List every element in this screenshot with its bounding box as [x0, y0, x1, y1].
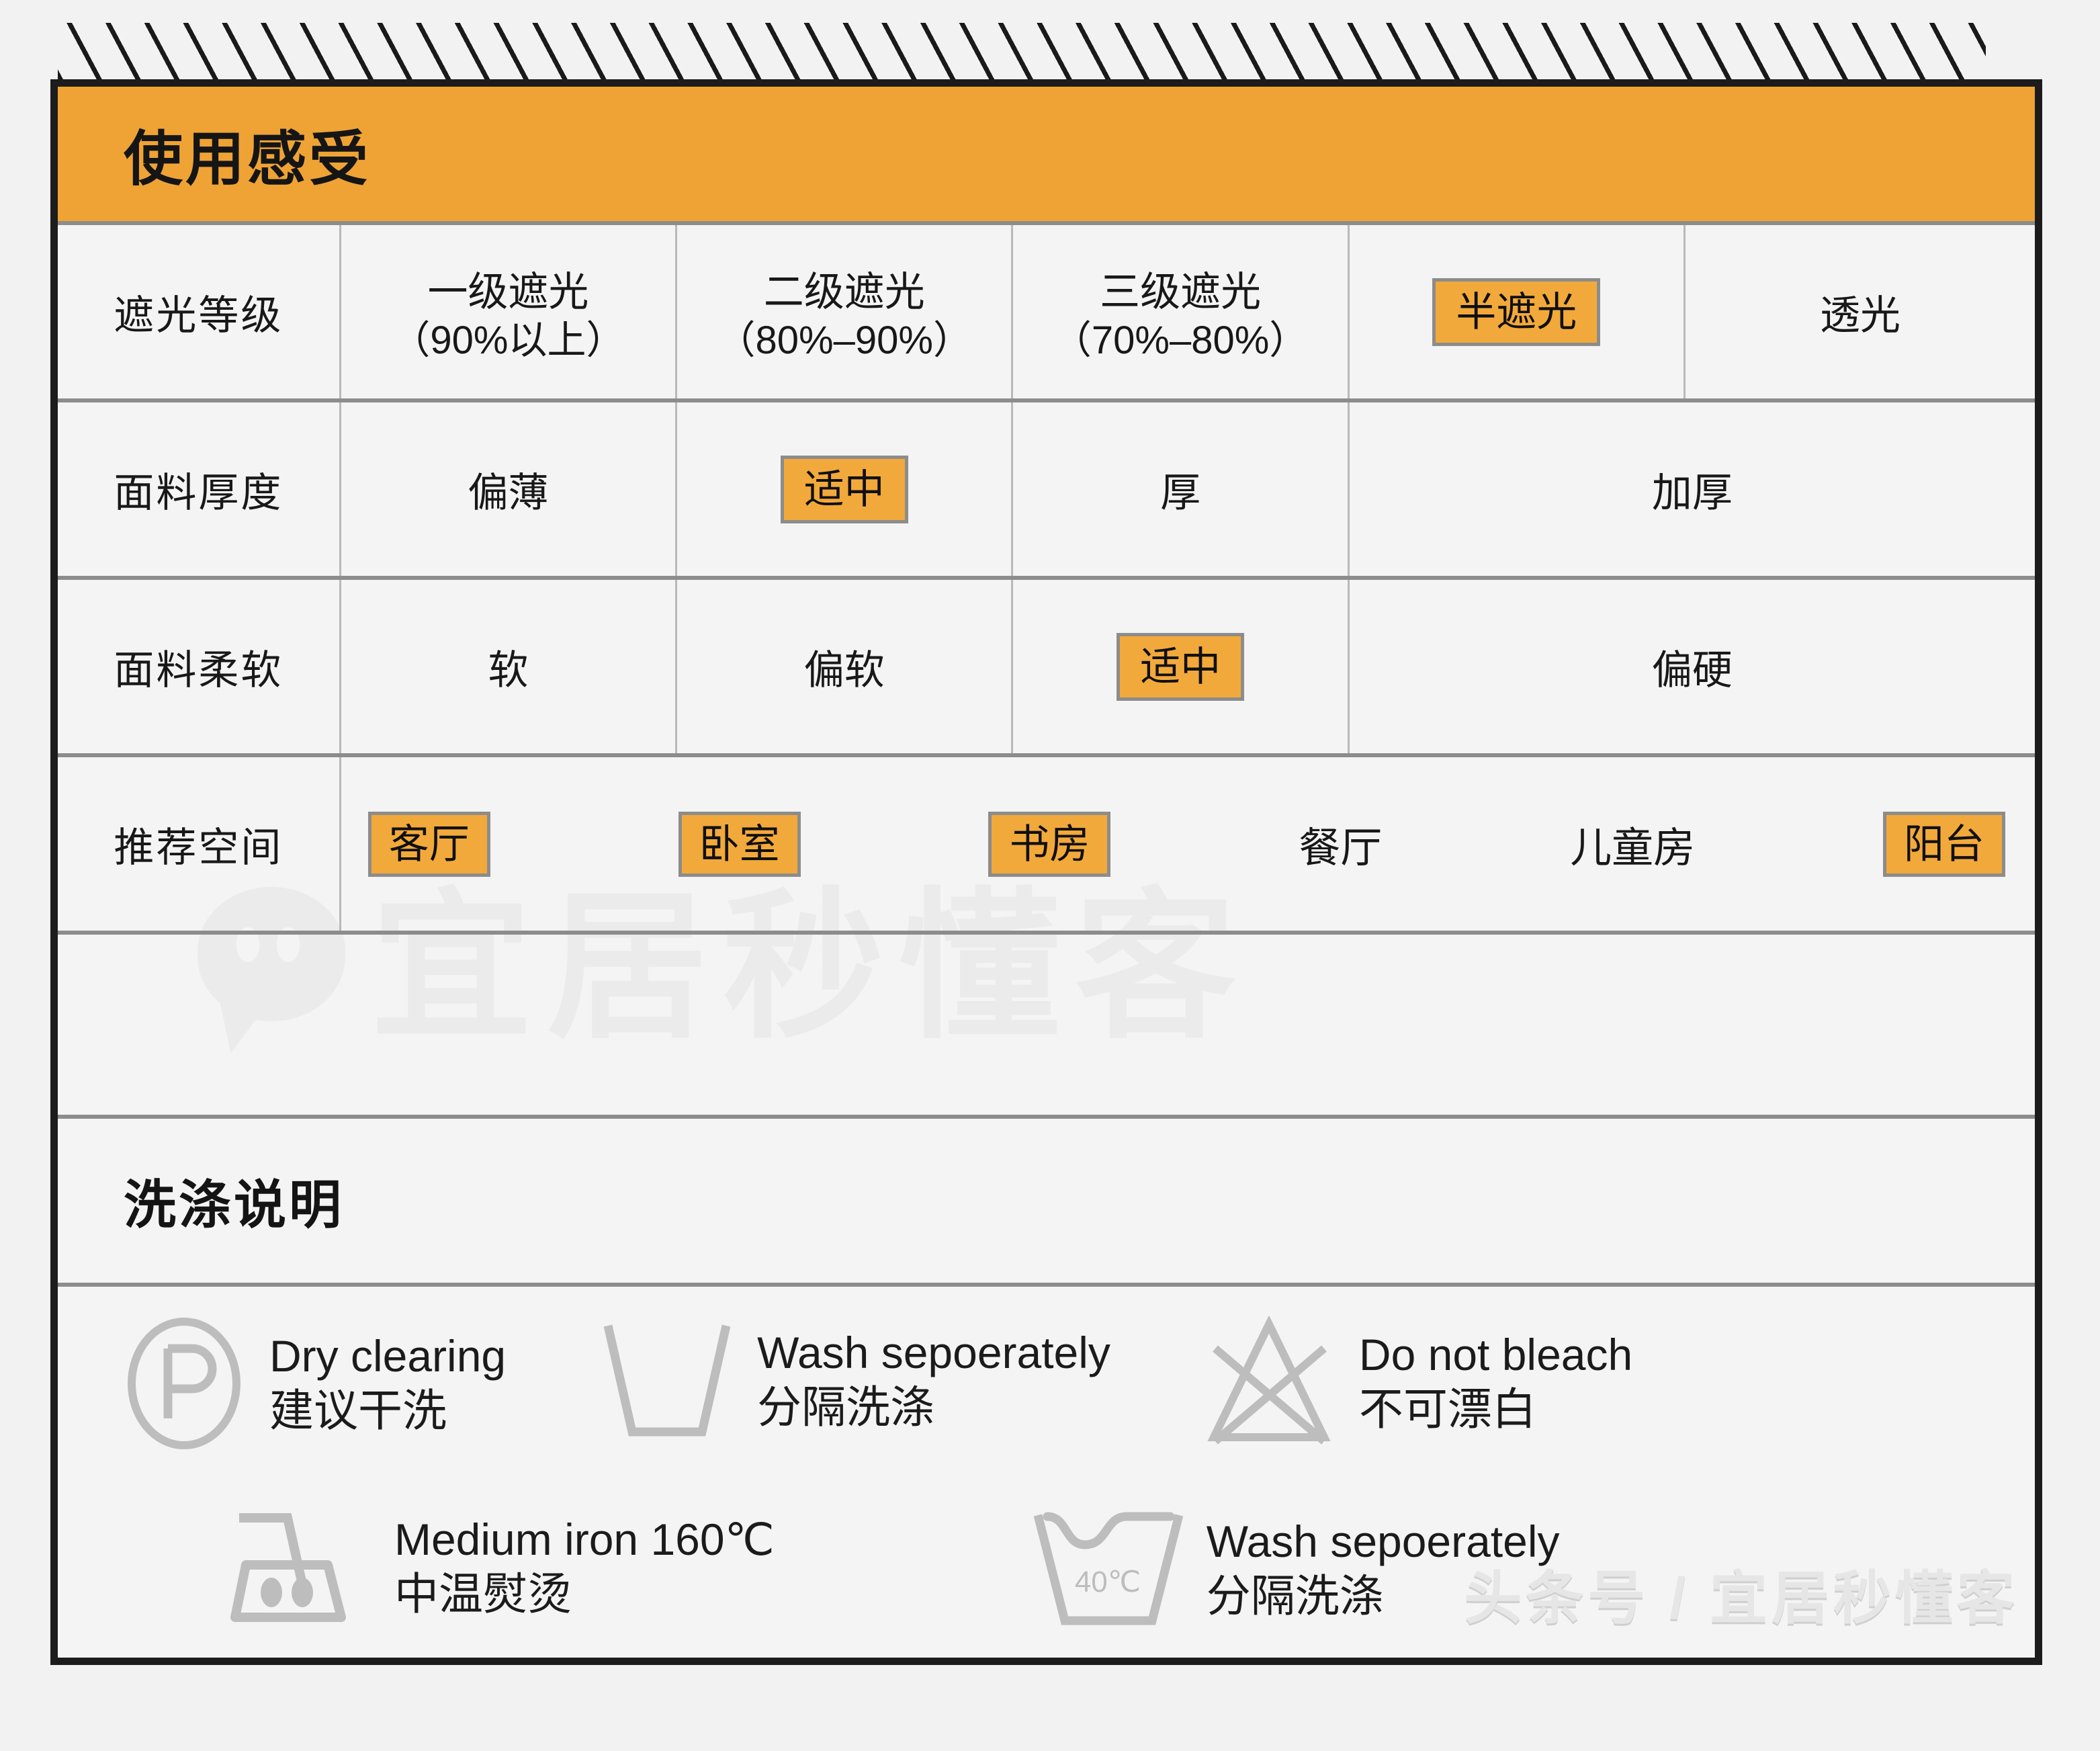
wash-care-cn: 中温熨烫	[394, 1567, 775, 1621]
cell-blackout-level-1: 一级遮光 （90%以上）	[340, 225, 676, 400]
do-not-bleach-icon	[1202, 1316, 1336, 1447]
highlight-chip-living-room: 客厅	[368, 812, 490, 877]
wash-care-text: Medium iron 160℃ 中温熨烫	[394, 1512, 775, 1621]
wash-care-en: Do not bleach	[1359, 1328, 1632, 1382]
table-row: 面料柔软 软 偏软 适中 偏硬	[58, 578, 2035, 755]
cell-sub-text: （80%–90%）	[677, 318, 1011, 364]
cell-main-text: 透光	[1820, 293, 1900, 338]
row-label-recommended-spaces: 推荐空间	[58, 755, 340, 933]
wash-care-en: Dry clearing	[269, 1329, 506, 1383]
table-row: 面料厚度 偏薄 适中 厚 加厚	[58, 400, 2035, 578]
cell-main-text: 三级遮光	[1100, 269, 1261, 314]
content-frame: 宜居秒懂客 使用感受 遮光等级 一级遮光	[50, 79, 2042, 1665]
wash-care-item-no-bleach: Do not bleach 不可漂白	[1202, 1316, 1632, 1447]
table-row: 推荐空间 客厅 卧室 书房 餐厅 儿童房 阳台	[58, 755, 2035, 933]
row-label-thickness: 面料厚度	[58, 400, 340, 578]
cell-thickness-thick: 厚	[1012, 400, 1348, 578]
space-dining-room: 餐厅	[1299, 814, 1382, 874]
cell-main-text: 二级遮光	[764, 269, 925, 314]
cell-blackout-semi: 半遮光	[1348, 225, 1684, 400]
wash-tub-40c-icon: 40℃	[1033, 1503, 1184, 1634]
usage-section-header: 使用感受	[58, 87, 2035, 225]
cell-thickness-extra-thick: 加厚	[1348, 400, 2035, 578]
wash-care-item-wash-separately: Wash sepoerately 分隔洗涤	[600, 1316, 1110, 1444]
wash-tub-icon	[600, 1316, 734, 1444]
cell-softness-medium: 适中	[1012, 578, 1348, 755]
wash-care-text: Wash sepoerately 分隔洗涤	[757, 1326, 1110, 1434]
cell-softness-semi-soft: 偏软	[676, 578, 1012, 755]
wash-care-en: Medium iron 160℃	[394, 1512, 775, 1567]
diagonal-hatch-decoration	[58, 23, 1986, 79]
wash-tub-temp-label: 40℃	[1075, 1566, 1141, 1598]
wash-care-row-1: Dry clearing 建议干洗 Wash sepoerately 分隔洗涤	[58, 1316, 2035, 1451]
bottom-watermark-text: 头条号 / 宜居秒懂客	[1464, 1551, 2019, 1635]
cell-recommended-spaces: 客厅 卧室 书房 餐厅 儿童房 阳台	[340, 755, 2035, 933]
cell-softness-soft: 软	[340, 578, 676, 755]
wash-care-cn: 建议干洗	[269, 1383, 506, 1438]
table-row-spacer	[58, 933, 2035, 1117]
highlight-chip-balcony: 阳台	[1883, 812, 2005, 877]
wash-section-header: 洗涤说明	[58, 1119, 2035, 1287]
cell-blackout-sheer: 透光	[1685, 225, 2035, 400]
highlight-chip-medium-softness: 适中	[1117, 633, 1244, 701]
wash-care-en: Wash sepoerately	[757, 1326, 1110, 1380]
usage-section-title: 使用感受	[124, 112, 371, 197]
dry-clean-p-icon	[122, 1316, 247, 1451]
cell-main-text: 一级遮光	[427, 269, 588, 314]
spacer-cell	[58, 933, 2035, 1117]
wash-care-item-dry-clean: Dry clearing 建议干洗	[122, 1316, 506, 1451]
cell-softness-stiff: 偏硬	[1348, 578, 2035, 755]
space-kids-room: 儿童房	[1570, 814, 1695, 874]
table-row: 遮光等级 一级遮光 （90%以上） 二级遮光 （80%–90%） 三级遮光 （7…	[58, 225, 2035, 400]
wash-section-title: 洗涤说明	[124, 1163, 344, 1238]
wash-care-text: Do not bleach 不可漂白	[1359, 1328, 1632, 1436]
cell-blackout-level-3: 三级遮光 （70%–80%）	[1012, 225, 1348, 400]
spec-table: 遮光等级 一级遮光 （90%以上） 二级遮光 （80%–90%） 三级遮光 （7…	[58, 225, 2035, 1119]
highlight-chip-medium-thickness: 适中	[781, 456, 908, 523]
wash-care-cn: 不可漂白	[1359, 1382, 1632, 1437]
iron-medium-icon	[227, 1503, 371, 1631]
cell-sub-text: （90%以上）	[341, 318, 675, 364]
wash-care-text: Dry clearing 建议干洗	[269, 1329, 506, 1437]
highlight-chip-study: 书房	[988, 812, 1110, 877]
row-label-softness: 面料柔软	[58, 578, 340, 755]
highlight-chip-semi-blackout: 半遮光	[1432, 278, 1600, 346]
wash-care-item-medium-iron: Medium iron 160℃ 中温熨烫	[227, 1503, 775, 1631]
cell-thickness-medium: 适中	[676, 400, 1012, 578]
cell-thickness-thin: 偏薄	[340, 400, 676, 578]
cell-blackout-level-2: 二级遮光 （80%–90%）	[676, 225, 1012, 400]
infographic-page: 宜居秒懂客 使用感受 遮光等级 一级遮光	[0, 0, 2100, 1751]
row-label-blackout: 遮光等级	[58, 225, 340, 400]
wash-care-cn: 分隔洗涤	[757, 1380, 1110, 1435]
cell-sub-text: （70%–80%）	[1013, 318, 1347, 364]
highlight-chip-bedroom: 卧室	[679, 812, 801, 877]
